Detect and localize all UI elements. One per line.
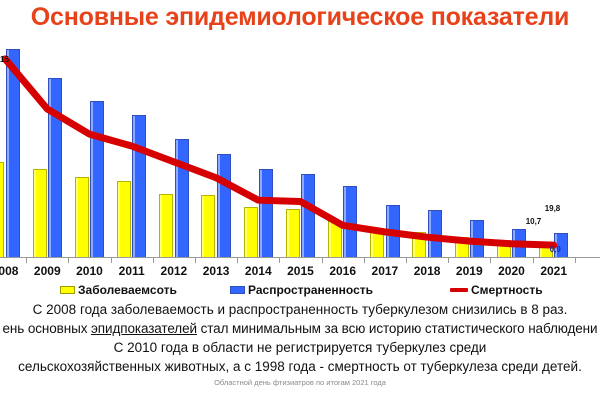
legend-item-incidence: Заболеваемсоть: [60, 283, 177, 297]
body-line-2: ень основных эпидпоказателей стал минима…: [0, 322, 600, 336]
x-axis-label-2008: 2008: [0, 264, 26, 278]
x-tick-end: [575, 258, 576, 263]
legend-label-mortality: Смертность: [471, 283, 543, 297]
x-tick-2014: [237, 258, 238, 263]
x-tick-2019: [448, 258, 449, 263]
x-tick-2017: [364, 258, 365, 263]
slide-footer: Областной день фтизиатров по итогам 2021…: [0, 378, 600, 392]
x-tick-2015: [279, 258, 280, 263]
x-axis-label-2010: 2010: [68, 264, 110, 278]
x-axis-labels: 2008200920102011201220132014201520162017…: [0, 264, 600, 282]
x-axis-label-2020: 2020: [490, 264, 532, 278]
x-tick-2011: [111, 258, 112, 263]
yellow-square-swatch-icon: [60, 286, 75, 294]
x-tick-2021: [533, 258, 534, 263]
label-mortality-first: 15: [0, 55, 9, 64]
x-tick-2012: [153, 258, 154, 263]
label-incidence-last: 10,7: [526, 217, 542, 226]
red-line-swatch-icon: [450, 288, 468, 292]
body-line-4: сельскохозяйственных животных, а с 1998 …: [0, 360, 600, 374]
slide-root: Основные эпидемиологическое показатели 1…: [0, 0, 600, 400]
x-tick-2020: [490, 258, 491, 263]
blue-square-swatch-icon: [230, 286, 245, 294]
body-line-1: С 2008 года заболеваемость и распростран…: [0, 303, 600, 317]
x-tick-2010: [68, 258, 69, 263]
body-line-2-prefix: ень основных: [3, 321, 92, 336]
chart-plot-area: 1510,719,80,9: [0, 36, 600, 258]
x-axis-label-2016: 2016: [322, 264, 364, 278]
chart-legend: Заболеваемсоть Распространенность Смертн…: [0, 283, 600, 301]
x-axis-label-2015: 2015: [279, 264, 321, 278]
body-line-3: С 2010 года в области не регистрируется …: [0, 341, 600, 355]
x-tick-2009: [26, 258, 27, 263]
legend-label-prevalence: Распространенность: [248, 283, 373, 297]
x-axis-label-2021: 2021: [533, 264, 575, 278]
x-tick-2018: [406, 258, 407, 263]
x-axis-label-2012: 2012: [153, 264, 195, 278]
mortality-line-chart: [0, 36, 600, 258]
x-axis-label-2011: 2011: [111, 264, 153, 278]
x-axis-label-2013: 2013: [195, 264, 237, 278]
x-tick-2016: [322, 258, 323, 263]
mortality-line-path: [5, 59, 554, 245]
x-axis-label-2017: 2017: [364, 264, 406, 278]
x-axis-label-2009: 2009: [26, 264, 68, 278]
page-title: Основные эпидемиологическое показатели: [31, 5, 569, 30]
legend-label-incidence: Заболеваемсоть: [78, 283, 177, 297]
epidemiology-chart: 1510,719,80,9 20082009201020112012201320…: [0, 36, 600, 276]
x-axis-label-2019: 2019: [448, 264, 490, 278]
label-mortality-last: 0,9: [550, 245, 561, 254]
body-line-2-underlined: эпидпоказателей: [91, 321, 197, 336]
legend-item-prevalence: Распространенность: [230, 283, 373, 297]
x-axis-label-2018: 2018: [406, 264, 448, 278]
label-prevalence-last: 19,8: [545, 204, 561, 213]
slide-body-text: С 2008 года заболеваемость и распростран…: [0, 303, 600, 378]
x-axis-line: [0, 257, 600, 258]
legend-item-mortality: Смертность: [450, 283, 543, 297]
body-line-2-suffix: стал минимальным за всю историю статисти…: [197, 321, 598, 336]
slide-title-bar: Основные эпидемиологическое показатели: [0, 0, 600, 34]
x-tick-2013: [195, 258, 196, 263]
x-axis-label-2014: 2014: [237, 264, 279, 278]
